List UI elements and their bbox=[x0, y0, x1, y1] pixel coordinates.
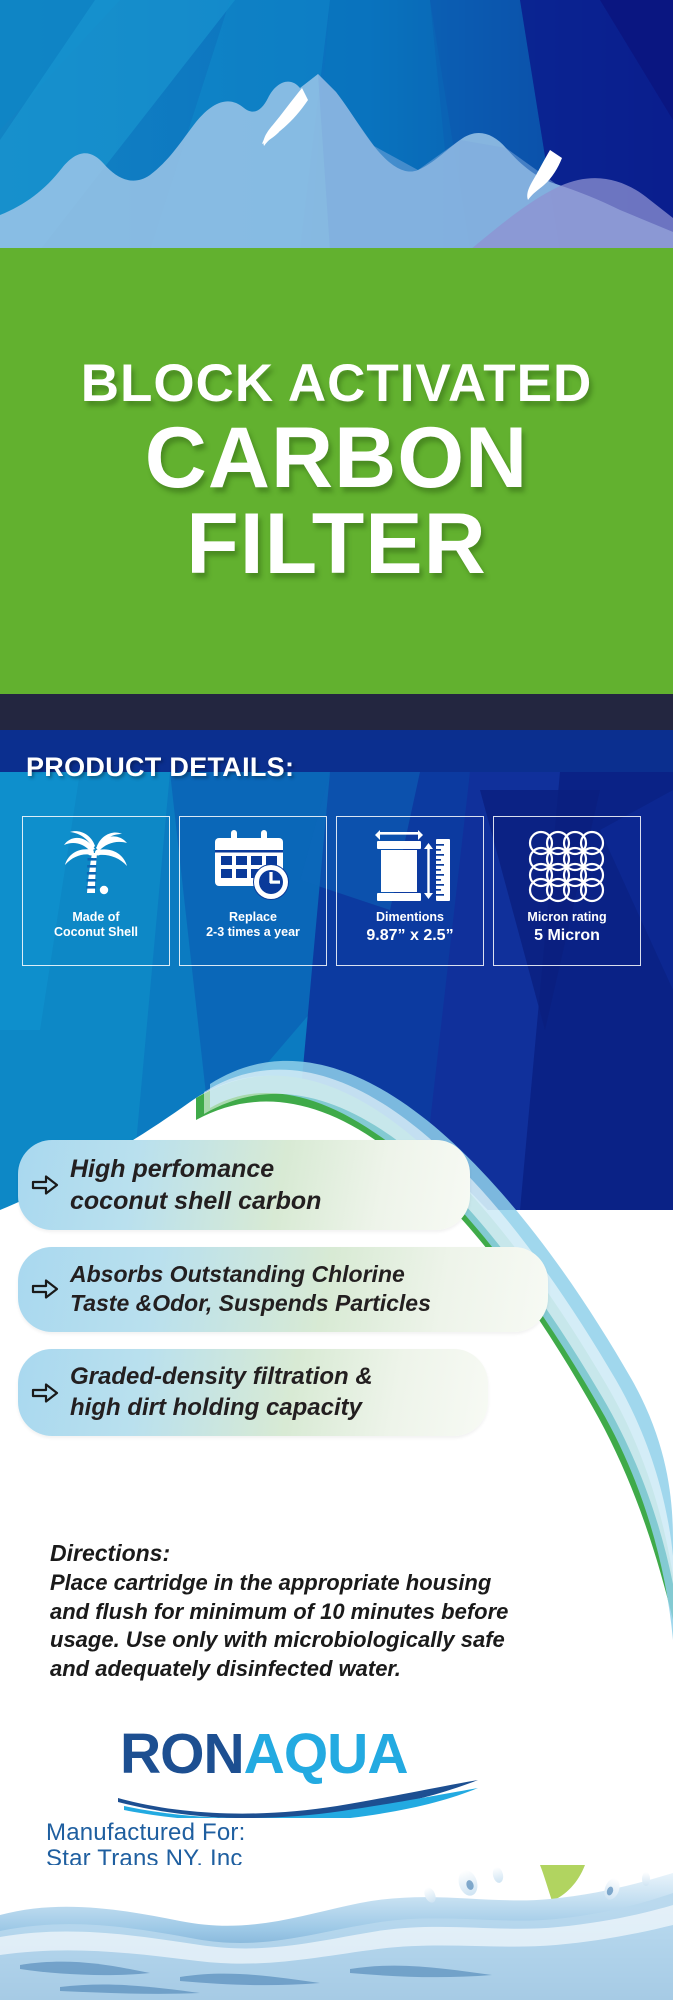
ronaqua-logo: RONAQUA bbox=[120, 1726, 480, 1818]
palm-tree-icon bbox=[59, 824, 133, 908]
detail-caption-replacement-line1: Replace bbox=[229, 910, 277, 924]
ronaqua-wordmark: RONAQUA bbox=[120, 1726, 480, 1783]
product-details-heading: PRODUCT DETAILS: bbox=[26, 752, 294, 783]
product-title-panel: BLOCK ACTIVATED CARBON FILTER bbox=[0, 248, 673, 696]
feature-pill-1: High perfomance coconut shell carbon bbox=[18, 1140, 470, 1230]
feature-text-3: Graded-density filtration & high dirt ho… bbox=[70, 1362, 470, 1423]
detail-caption-replacement-line2: 2-3 times a year bbox=[206, 925, 300, 939]
detail-caption-micron-line2: 5 Micron bbox=[527, 926, 606, 946]
logo-wave-icon bbox=[112, 1778, 484, 1818]
detail-box-replacement: Replace 2-3 times a year bbox=[179, 816, 327, 966]
right-arrow-outline-icon bbox=[30, 1172, 60, 1198]
product-label: BLOCK ACTIVATED CARBON FILTER PRODUCT bbox=[0, 0, 673, 2000]
detail-caption-dimensions-line1: Dimentions bbox=[376, 910, 444, 924]
directions-line-3: usage. Use only with microbiologically s… bbox=[50, 1627, 505, 1652]
logo-text-aqua: AQUA bbox=[244, 1722, 408, 1786]
detail-caption-dimensions: Dimentions 9.87” x 2.5” bbox=[366, 910, 453, 946]
feature-text-3-line2: high dirt holding capacity bbox=[70, 1394, 362, 1421]
detail-caption-material-line1: Made of bbox=[72, 910, 119, 924]
title-line-2: CARBON bbox=[145, 416, 528, 500]
directions-block: Directions: Place cartridge in the appro… bbox=[50, 1540, 550, 1683]
detail-caption-micron: Micron rating 5 Micron bbox=[527, 910, 606, 946]
cartridge-ruler-icon bbox=[368, 824, 452, 908]
detail-caption-material: Made of Coconut Shell bbox=[54, 910, 138, 941]
feature-text-3-line1: Graded-density filtration & bbox=[70, 1363, 373, 1390]
title-line-3: FILTER bbox=[186, 502, 487, 586]
feature-pill-3: Graded-density filtration & high dirt ho… bbox=[18, 1349, 488, 1436]
directions-line-2: and flush for minimum of 10 minutes befo… bbox=[50, 1599, 508, 1624]
manufacturer-line-1: Manufactured For: bbox=[46, 1820, 318, 1846]
title-line-1: BLOCK ACTIVATED bbox=[81, 358, 593, 410]
product-details-icon-row: Made of Coconut Shell bbox=[22, 816, 654, 966]
detail-caption-micron-line1: Micron rating bbox=[527, 910, 606, 924]
feature-text-1: High perfomance coconut shell carbon bbox=[70, 1153, 452, 1217]
directions-title: Directions: bbox=[50, 1540, 550, 1567]
feature-pill-2: Absorbs Outstanding Chlorine Taste &Odor… bbox=[18, 1247, 548, 1332]
logo-text-ron: RON bbox=[120, 1722, 244, 1786]
directions-body: Place cartridge in the appropriate housi… bbox=[50, 1569, 550, 1683]
feature-text-2-line1: Absorbs Outstanding Chlorine bbox=[70, 1261, 405, 1287]
detail-box-micron: Micron rating 5 Micron bbox=[493, 816, 641, 966]
feature-list: High perfomance coconut shell carbon Abs… bbox=[18, 1140, 578, 1453]
mountain-banner-graphic bbox=[0, 0, 673, 250]
detail-caption-material-line2: Coconut Shell bbox=[54, 925, 138, 939]
directions-line-4: and adequately disinfected water. bbox=[50, 1656, 401, 1681]
right-arrow-outline-icon bbox=[30, 1380, 60, 1406]
directions-line-1: Place cartridge in the appropriate housi… bbox=[50, 1570, 491, 1595]
feature-text-2: Absorbs Outstanding Chlorine Taste &Odor… bbox=[70, 1260, 530, 1319]
product-details-background bbox=[0, 730, 673, 1210]
water-splash-graphic bbox=[0, 1865, 673, 2000]
feature-text-1-line1: High perfomance bbox=[70, 1155, 274, 1183]
feature-text-1-line2: coconut shell carbon bbox=[70, 1187, 321, 1215]
detail-box-dimensions: Dimentions 9.87” x 2.5” bbox=[336, 816, 484, 966]
right-arrow-outline-icon bbox=[30, 1276, 60, 1302]
calendar-clock-icon bbox=[213, 824, 293, 908]
detail-caption-dimensions-line2: 9.87” x 2.5” bbox=[366, 926, 453, 946]
detail-box-material: Made of Coconut Shell bbox=[22, 816, 170, 966]
feature-text-2-line2: Taste &Odor, Suspends Particles bbox=[70, 1290, 431, 1316]
detail-caption-replacement: Replace 2-3 times a year bbox=[206, 910, 300, 941]
micron-mesh-icon bbox=[525, 824, 609, 908]
